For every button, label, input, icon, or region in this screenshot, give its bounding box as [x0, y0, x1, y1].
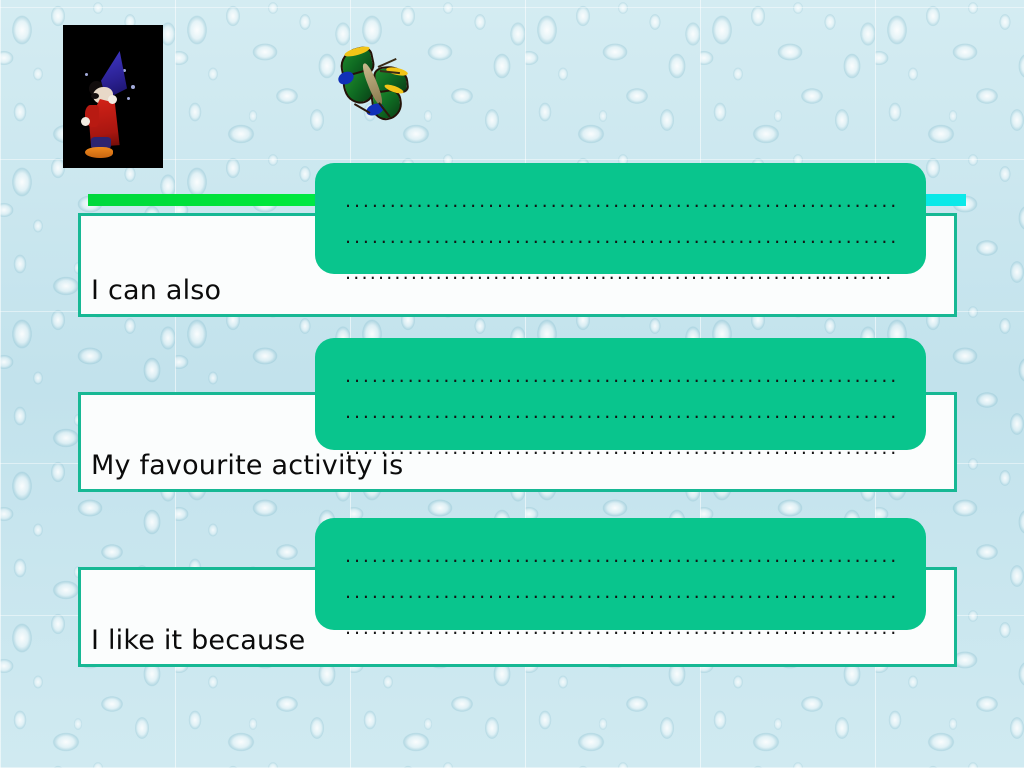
answer-box-3[interactable]: ........................................…: [315, 518, 926, 630]
sparkle-icon: [85, 73, 88, 76]
slide-canvas: I can also .............................…: [0, 0, 1024, 768]
answer-dotted-line[interactable]: ........................................…: [345, 538, 900, 574]
sparkle-icon: [131, 85, 135, 89]
sorcerer-mickey-photo[interactable]: [63, 25, 163, 168]
answer-dotted-line[interactable]: ........................................…: [345, 219, 900, 255]
answer-box-2[interactable]: ........................................…: [315, 338, 926, 450]
answer-dotted-line[interactable]: ........................................…: [345, 394, 900, 430]
answer-dotted-line[interactable]: ........................................…: [345, 574, 900, 610]
sparkle-icon: [127, 97, 130, 100]
mickey-nose: [91, 93, 99, 99]
answer-dotted-line[interactable]: ........................................…: [345, 610, 900, 646]
mickey-hand-left: [81, 117, 90, 126]
prompt-label-3: I like it because: [91, 625, 305, 656]
prompt-label-1: I can also: [91, 275, 221, 306]
answer-dotted-line[interactable]: ........................................…: [345, 430, 900, 466]
answer-dotted-line[interactable]: ........................................…: [345, 183, 900, 219]
butterfly-clipart[interactable]: [336, 46, 414, 128]
answer-dotted-line[interactable]: ........................................…: [345, 358, 900, 394]
answer-dotted-line[interactable]: ........................................…: [345, 255, 900, 291]
mickey-hand-right: [108, 95, 117, 104]
mickey-shoe: [85, 147, 113, 158]
answer-box-1[interactable]: ........................................…: [315, 163, 926, 274]
